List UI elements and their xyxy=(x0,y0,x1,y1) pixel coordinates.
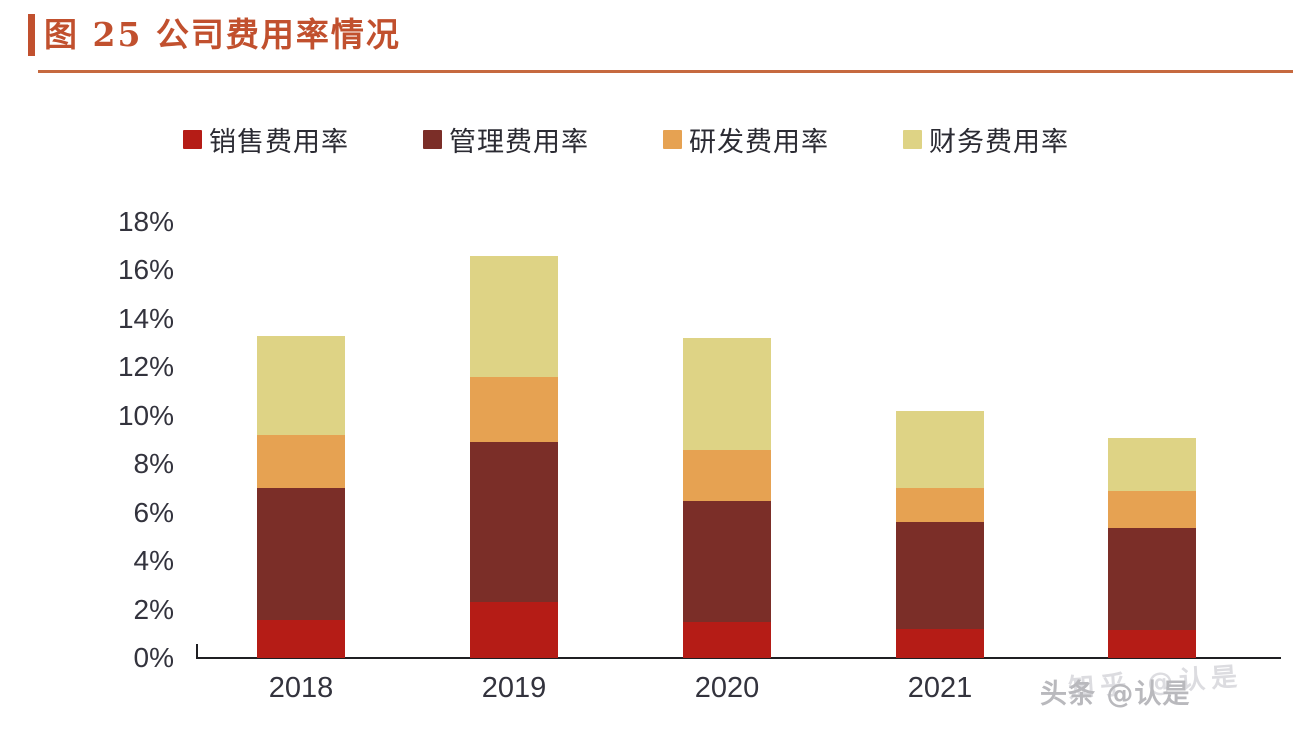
bar-group: 2020 xyxy=(683,0,771,658)
stacked-bar[interactable] xyxy=(257,0,345,658)
bar-segment[interactable] xyxy=(470,256,558,377)
y-axis-tick-label: 12% xyxy=(96,351,174,383)
bar-group: 2018 xyxy=(257,0,345,658)
bar-segment[interactable] xyxy=(257,488,345,620)
y-axis: 18%16%14%12%10%8%6%4%2%0% xyxy=(96,200,174,660)
bar-segment[interactable] xyxy=(1108,438,1196,491)
x-axis-tick-label: 2018 xyxy=(227,672,375,705)
stacked-bar[interactable] xyxy=(470,0,558,658)
bar-segment[interactable] xyxy=(470,377,558,442)
bar-segment[interactable] xyxy=(470,442,558,602)
y-axis-tick-label: 4% xyxy=(96,545,174,577)
bar-segment[interactable] xyxy=(257,620,345,658)
bar-segment[interactable] xyxy=(1108,528,1196,630)
bar-segment[interactable] xyxy=(470,602,558,658)
bar-segment[interactable] xyxy=(683,501,771,622)
stacked-bar-chart: 18%16%14%12%10%8%6%4%2%0% 20182019202020… xyxy=(0,0,1310,742)
bar-segment[interactable] xyxy=(896,522,984,629)
bar-segment[interactable] xyxy=(683,622,771,658)
bar-segment[interactable] xyxy=(896,488,984,522)
bar-group: 2019 xyxy=(470,0,558,658)
y-axis-tick-label: 6% xyxy=(96,497,174,529)
x-axis-tick-label: 2021 xyxy=(866,672,1014,705)
bar-segment[interactable] xyxy=(683,450,771,501)
stacked-bar[interactable] xyxy=(683,0,771,658)
bar-segment[interactable] xyxy=(257,435,345,488)
bar-segment[interactable] xyxy=(1108,491,1196,529)
stacked-bar[interactable] xyxy=(1108,0,1196,658)
y-axis-tick-label: 18% xyxy=(96,206,174,238)
watermark: 头条 @认是 xyxy=(1040,672,1190,711)
y-axis-tick-label: 0% xyxy=(96,642,174,674)
bar-group: 2021 xyxy=(896,0,984,658)
x-axis-tick-label: 2019 xyxy=(440,672,588,705)
y-axis-tick-label: 2% xyxy=(96,594,174,626)
stacked-bar[interactable] xyxy=(896,0,984,658)
y-axis-tick-label: 14% xyxy=(96,303,174,335)
y-axis-tick-label: 16% xyxy=(96,254,174,286)
bar-segment[interactable] xyxy=(683,338,771,449)
bar-segment[interactable] xyxy=(896,629,984,658)
y-axis-tick-label: 8% xyxy=(96,448,174,480)
y-axis-tick-label: 10% xyxy=(96,400,174,432)
bar-segment[interactable] xyxy=(257,336,345,435)
bar-group xyxy=(1108,0,1196,658)
x-axis-tick-label: 2020 xyxy=(653,672,801,705)
bar-segment[interactable] xyxy=(1108,630,1196,658)
bar-segment[interactable] xyxy=(896,411,984,489)
